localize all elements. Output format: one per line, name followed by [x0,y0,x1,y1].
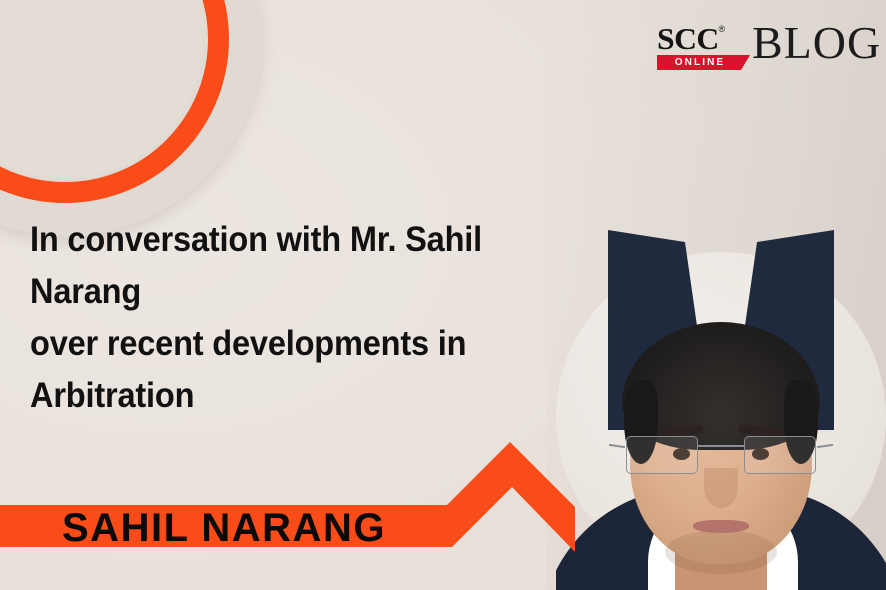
scc-online-blog-logo[interactable]: SCC ® ONLINE BLOG [657,22,881,70]
page-title: In conversation with Mr. Sahil Narang ov… [30,214,593,422]
scc-wordmark: SCC [657,24,719,53]
blog-wordmark: BLOG [752,20,881,66]
scc-online-mark: SCC ® ONLINE [657,22,741,70]
registered-trademark-icon: ® [719,25,726,34]
scc-wordmark-row: SCC ® [657,24,741,53]
online-badge: ONLINE [657,55,741,70]
blog-banner-card: SAHIL NARANG In conversation with Mr. Sa… [0,0,886,590]
speaker-name: SAHIL NARANG [62,508,386,548]
circular-ring-decoration [0,0,262,236]
online-label: ONLINE [673,57,725,68]
